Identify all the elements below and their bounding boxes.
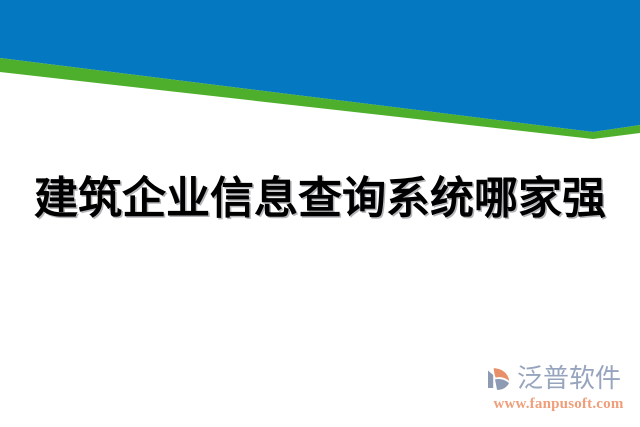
brand-logo: 泛普软件 www.fanpusoft.com bbox=[484, 362, 632, 418]
brand-logo-row: 泛普软件 bbox=[484, 362, 621, 396]
brand-logo-wordmark: 泛普软件 bbox=[517, 364, 621, 394]
page-title-text: 建筑企业信息查询系统哪家强 bbox=[34, 171, 606, 227]
page-title: 建筑企业信息查询系统哪家强 bbox=[0, 171, 640, 227]
brand-logo-url: www.fanpusoft.com bbox=[485, 395, 632, 413]
decorative-header-banner bbox=[0, 0, 640, 150]
slide-canvas: 建筑企业信息查询系统哪家强 泛普软件 www.fanpusoft.com bbox=[0, 0, 640, 427]
fanpu-swoosh-logo-icon bbox=[484, 364, 514, 394]
banner-blue-shape bbox=[0, 0, 640, 132]
